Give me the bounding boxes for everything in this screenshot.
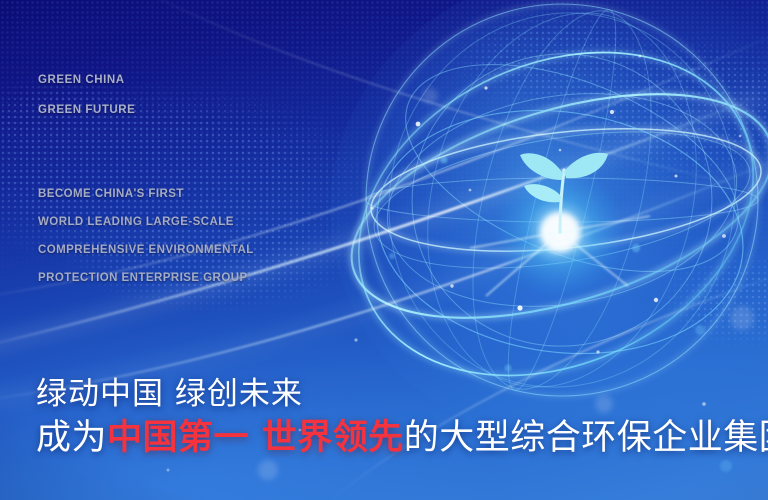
headline-prefix: 成为 [36,418,107,458]
claim-line-2: WORLD LEADING LARGE-SCALE [38,216,234,228]
headline-highlight: 中国第一 世界领先 [107,418,404,458]
claim-line-4: PROTECTION ENTERPRISE GROUP [38,272,248,284]
headline-suffix: 的大型综合环保企业集团 [404,418,768,458]
claim-line-1: BECOME CHINA'S FIRST [38,188,184,200]
headline-line-1: 绿动中国 绿创未来 [36,368,303,413]
headline-line-2: 成为中国第一 世界领先的大型综合环保企业集团 [36,409,768,460]
eyebrow-line-1: GREEN CHINA [38,74,125,86]
claim-line-3: COMPREHENSIVE ENVIRONMENTAL [38,244,254,256]
eyebrow-line-2: GREEN FUTURE [38,104,135,116]
hero-banner: GREEN CHINA GREEN FUTURE BECOME CHINA'S … [0,0,768,500]
